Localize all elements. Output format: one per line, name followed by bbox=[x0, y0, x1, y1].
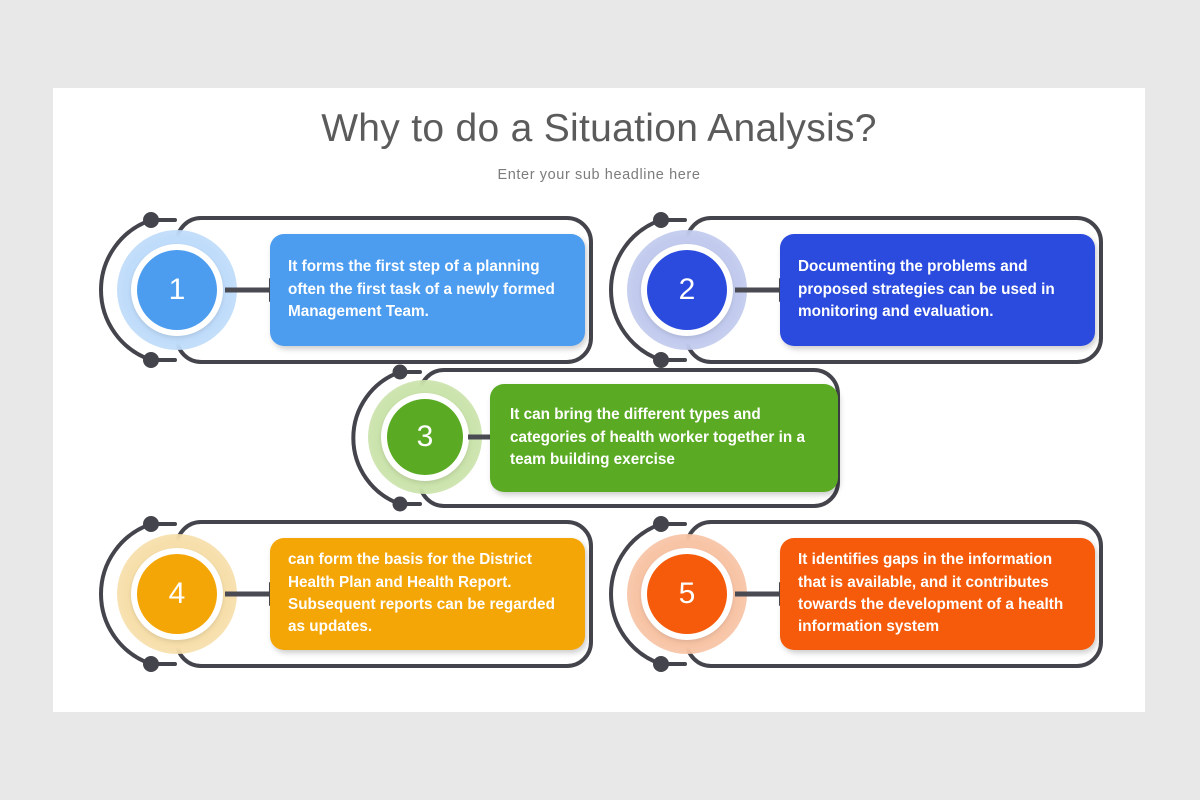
card-text-panel: It identifies gaps in the information th… bbox=[780, 538, 1095, 650]
step-number-badge: 5 bbox=[647, 554, 727, 634]
step-number: 4 bbox=[169, 577, 186, 611]
slide-canvas: Why to do a Situation Analysis? Enter yo… bbox=[53, 88, 1145, 712]
heading-block: Why to do a Situation Analysis? Enter yo… bbox=[53, 108, 1145, 183]
info-card-1[interactable]: 1 It forms the first step of a planning … bbox=[103, 216, 593, 364]
card-text-panel: can form the basis for the District Heal… bbox=[270, 538, 585, 650]
card-text: can form the basis for the District Heal… bbox=[288, 549, 571, 639]
card-text: It forms the first step of a planning of… bbox=[288, 256, 571, 323]
step-number: 1 bbox=[169, 273, 186, 307]
info-card-3[interactable]: 3 It can bring the different types and c… bbox=[358, 368, 840, 508]
info-card-4[interactable]: 4 can form the basis for the District He… bbox=[103, 520, 593, 668]
card-text: It can bring the different types and cat… bbox=[510, 404, 824, 471]
card-text-panel: Documenting the problems and proposed st… bbox=[780, 234, 1095, 346]
step-number-badge: 1 bbox=[137, 250, 217, 330]
card-text-panel: It forms the first step of a planning of… bbox=[270, 234, 585, 346]
card-text: Documenting the problems and proposed st… bbox=[798, 256, 1081, 323]
card-text: It identifies gaps in the information th… bbox=[798, 549, 1081, 639]
info-card-5[interactable]: 5 It identifies gaps in the information … bbox=[613, 520, 1103, 668]
step-number-badge: 2 bbox=[647, 250, 727, 330]
card-text-panel: It can bring the different types and cat… bbox=[490, 384, 838, 492]
step-number-badge: 4 bbox=[137, 554, 217, 634]
info-card-2[interactable]: 2 Documenting the problems and proposed … bbox=[613, 216, 1103, 364]
step-number: 5 bbox=[679, 577, 696, 611]
step-number-badge: 3 bbox=[387, 399, 463, 475]
step-number: 3 bbox=[417, 420, 434, 454]
step-number: 2 bbox=[679, 273, 696, 307]
page-subtitle: Enter your sub headline here bbox=[53, 167, 1145, 183]
page-title: Why to do a Situation Analysis? bbox=[53, 108, 1145, 151]
